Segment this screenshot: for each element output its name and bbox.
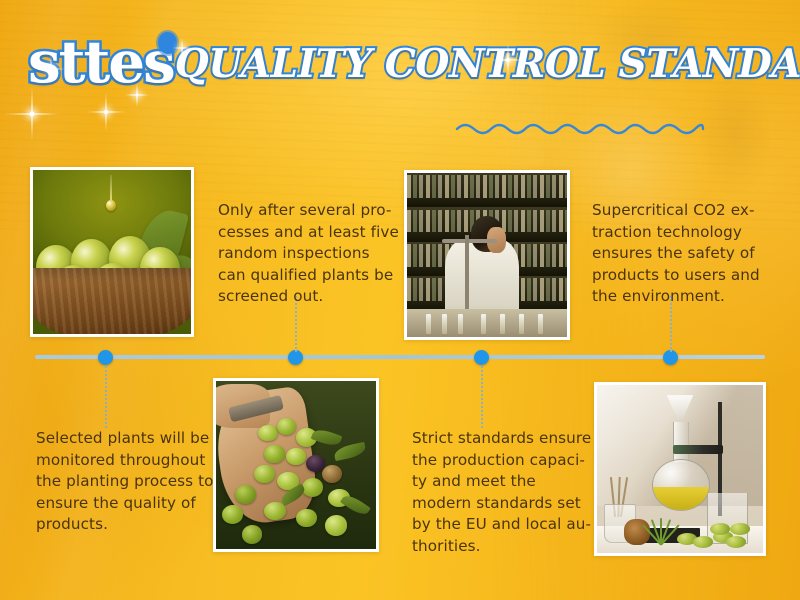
olive-fruit bbox=[286, 448, 305, 465]
sample-vial bbox=[481, 314, 486, 334]
brand-title-row: sttes QUALITY CONTROL STANDARD bbox=[28, 34, 800, 90]
timeline-node-4[interactable] bbox=[663, 350, 678, 365]
lab-stand-post bbox=[465, 235, 469, 309]
olive-fruit bbox=[264, 445, 285, 463]
photo-hands-holding-olives bbox=[213, 378, 379, 552]
olive-fruit bbox=[693, 536, 713, 548]
timeline-node-3[interactable] bbox=[474, 350, 489, 365]
step-4-text: Supercritical CO2 ex- traction technolog… bbox=[592, 200, 792, 308]
olive-leaf-icon bbox=[311, 427, 343, 449]
olive-fruit bbox=[730, 523, 750, 535]
bottle-shelf bbox=[407, 173, 567, 209]
step-2-text: Only after several pro- cesses and at le… bbox=[218, 200, 408, 308]
olive-fruit bbox=[306, 455, 325, 472]
page-title: QUALITY CONTROL STANDARD bbox=[175, 42, 800, 86]
sparkle-icon-3 bbox=[86, 92, 126, 132]
olive-fruit bbox=[277, 418, 296, 435]
olive-fruit bbox=[296, 509, 317, 527]
photo-olives-in-wooden-bowl-image bbox=[33, 170, 191, 334]
timeline-axis bbox=[35, 355, 765, 359]
olive-fruit bbox=[242, 525, 263, 543]
flask-clamp bbox=[673, 445, 723, 453]
sample-vial bbox=[426, 314, 431, 334]
timeline-connector-1 bbox=[105, 366, 107, 428]
photo-hands-holding-olives-image bbox=[216, 381, 376, 549]
brand-logo-text: sttes bbox=[28, 28, 174, 96]
timeline-node-1[interactable] bbox=[98, 350, 113, 365]
olive-leaf-icon bbox=[340, 492, 370, 518]
lab-stand-arm bbox=[442, 239, 496, 243]
photo-laboratory-technician-image bbox=[407, 173, 567, 337]
wooden-bowl bbox=[33, 268, 191, 334]
olive-fruit bbox=[710, 523, 730, 535]
step-1-text: Selected plants will be monitored throug… bbox=[36, 428, 226, 536]
green-sprig-icon bbox=[647, 518, 674, 545]
flask-neck bbox=[673, 422, 688, 462]
oil-stream-icon bbox=[110, 175, 112, 201]
infographic-slide: sttes QUALITY CONTROL STANDARD bbox=[0, 0, 800, 600]
sample-vial bbox=[442, 314, 447, 334]
timeline-connector-3 bbox=[481, 366, 483, 428]
olive-fruit bbox=[235, 485, 256, 503]
sample-vial bbox=[500, 314, 505, 334]
step-3-text: Strict standards ensure the production c… bbox=[412, 428, 602, 557]
photo-laboratory-technician bbox=[404, 170, 570, 340]
olive-leaf-icon bbox=[333, 442, 367, 462]
sample-vial bbox=[538, 314, 543, 334]
oil-droplet-icon bbox=[106, 200, 116, 211]
header: sttes QUALITY CONTROL STANDARD bbox=[0, 34, 800, 114]
olive-fruit bbox=[322, 465, 343, 483]
sample-vial bbox=[519, 314, 524, 334]
olive-fruit bbox=[325, 515, 347, 535]
sample-vial bbox=[458, 314, 463, 334]
photo-distillation-apparatus bbox=[594, 382, 766, 556]
olive-fruit bbox=[302, 478, 323, 496]
timeline-node-2[interactable] bbox=[288, 350, 303, 365]
brand-logo: sttes bbox=[28, 34, 174, 90]
oil-flask bbox=[652, 459, 710, 511]
photo-olives-in-wooden-bowl bbox=[30, 167, 194, 337]
wave-underline-icon bbox=[455, 120, 705, 136]
photo-distillation-apparatus-image bbox=[597, 385, 763, 553]
